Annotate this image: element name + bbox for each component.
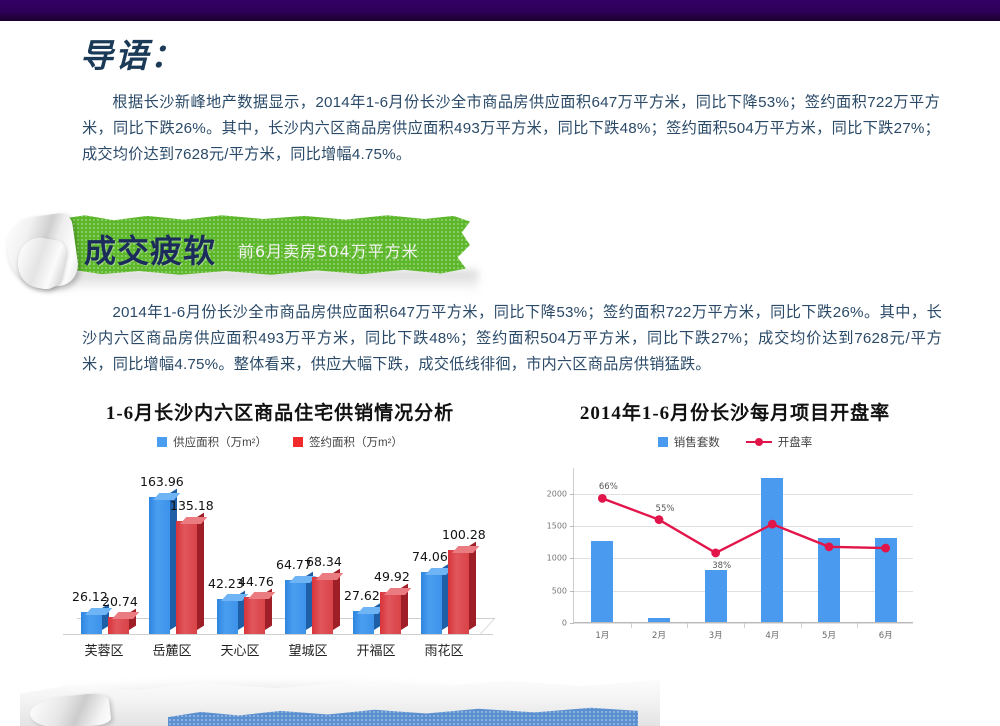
bar-face <box>176 521 197 634</box>
bar-value-label: 27.62 <box>344 588 380 603</box>
bar-face <box>81 612 102 634</box>
top-purple-bar <box>0 0 1000 21</box>
x-axis-tick-label: 3月 <box>688 629 744 641</box>
bar-face <box>421 572 442 634</box>
x-axis-tick-label: 6月 <box>858 629 914 641</box>
y-axis-tick-label: 1500 <box>547 522 567 531</box>
green-torn-banner: 成交疲软 前6月卖房504万平方米 <box>0 198 500 298</box>
x-axis-tickmark <box>744 623 745 628</box>
legend-label-contract: 签约面积（万m²） <box>309 434 403 450</box>
bar-supply <box>217 599 238 634</box>
y-axis-tick-label: 1000 <box>547 554 567 563</box>
bar-side <box>469 542 476 630</box>
y-axis-tick-label: 2000 <box>547 489 567 498</box>
y-axis-tick-label: 500 <box>552 586 567 595</box>
bar-face <box>244 597 265 634</box>
y-axis-tickmark <box>570 623 574 624</box>
bar-value-label: 163.96 <box>140 474 184 489</box>
x-axis-tickmark <box>687 623 688 628</box>
category-label: 开福区 <box>337 640 415 659</box>
bar-side <box>197 513 204 630</box>
bar-face <box>380 592 401 634</box>
bottom-torn-banner <box>0 668 1000 726</box>
bar-contract <box>108 617 129 634</box>
bar-group: 26.1220.74 <box>77 464 139 634</box>
x-axis-tickmark <box>631 623 632 628</box>
bar-face <box>448 550 469 634</box>
bar-value-label: 49.92 <box>374 569 410 584</box>
chart-floor-front <box>63 634 493 635</box>
y-axis-tick-label: 0 <box>562 619 567 628</box>
legend-swatch-red-icon <box>293 437 303 447</box>
chart-monthly-opening-rate: 2014年1-6月份长沙每月项目开盘率 销售套数 开盘率 05001000150… <box>515 398 955 660</box>
bar-value-label: 44.76 <box>238 574 274 589</box>
legend-item-opening-rate: 开盘率 <box>746 434 813 450</box>
legend-label-supply: 供应面积（万m²） <box>173 434 267 450</box>
legend-item-supply: 供应面积（万m²） <box>157 434 267 450</box>
line-point-label: 38% <box>712 561 731 571</box>
charts-row: 1-6月长沙内六区商品住宅供销情况分析 供应面积（万m²） 签约面积（万m²） … <box>0 398 1000 668</box>
banner-title: 成交疲软 <box>84 226 216 272</box>
legend-item-units-sold: 销售套数 <box>658 434 720 450</box>
bar-supply <box>149 497 170 634</box>
body-paragraph: 2014年1-6月份长沙全市商品房供应面积647万平方米，同比下降53%；签约面… <box>82 300 942 378</box>
bar-contract <box>448 550 469 634</box>
banner-subtitle: 前6月卖房504万平方米 <box>238 238 419 262</box>
x-axis-tick-label: 5月 <box>801 629 857 641</box>
x-axis-tick-label: 1月 <box>574 629 630 641</box>
line-point-label: 66% <box>599 482 618 492</box>
x-axis-tick-label: 4月 <box>744 629 800 641</box>
x-axis-tickmark <box>801 623 802 628</box>
bar-face <box>312 577 333 634</box>
chart-right-plot: 05001000150020001月2月3月4月5月6月66%55%38% <box>573 468 913 623</box>
chart-supply-sales-by-district: 1-6月长沙内六区商品住宅供销情况分析 供应面积（万m²） 签约面积（万m²） … <box>55 398 505 661</box>
legend-label-opening-rate: 开盘率 <box>778 434 813 450</box>
bar-contract <box>176 521 197 634</box>
bar-face <box>217 599 238 634</box>
chart-left-plot: 26.1220.74芙蓉区163.96135.18岳麓区42.2344.76天心… <box>55 456 505 661</box>
legend-line-marker-icon <box>746 437 772 447</box>
bar-group: 74.06100.28 <box>417 464 479 634</box>
body-section: 2014年1-6月份长沙全市商品房供应面积647万平方米，同比下降53%；签约面… <box>0 300 1000 378</box>
bar-group: 27.6249.92 <box>349 464 411 634</box>
category-label: 天心区 <box>201 640 279 659</box>
line-point-label: 55% <box>656 504 675 514</box>
bar-value-label: 20.74 <box>102 594 138 609</box>
category-label: 芙蓉区 <box>65 640 143 659</box>
bar-supply <box>421 572 442 634</box>
intro-heading: 导语： <box>80 38 1000 78</box>
intro-paragraph: 根据长沙新峰地产数据显示，2014年1-6月份长沙全市商品房供应面积647万平方… <box>82 90 940 168</box>
bar-group: 64.7768.34 <box>281 464 343 634</box>
chart-left-legend: 供应面积（万m²） 签约面积（万m²） <box>55 434 505 450</box>
bar-value-label: 74.06 <box>412 549 448 564</box>
bar-supply <box>353 611 374 634</box>
bar-face <box>108 617 129 634</box>
bar-group: 163.96135.18 <box>145 464 207 634</box>
category-label: 岳麓区 <box>133 640 211 659</box>
bar-contract <box>312 577 333 634</box>
bar-contract <box>380 592 401 634</box>
intro-section: 导语： 根据长沙新峰地产数据显示，2014年1-6月份长沙全市商品房供应面积64… <box>0 38 1000 168</box>
chart-left-title: 1-6月长沙内六区商品住宅供销情况分析 <box>55 398 505 425</box>
bar-value-label: 100.28 <box>442 527 486 542</box>
legend-item-contract: 签约面积（万m²） <box>293 434 403 450</box>
legend-label-units-sold: 销售套数 <box>674 434 720 450</box>
bar-contract <box>244 597 265 634</box>
bar-value-label: 135.18 <box>170 498 214 513</box>
chart-right-legend: 销售套数 开盘率 <box>515 434 955 450</box>
bar-face <box>149 497 170 634</box>
legend-swatch-blue-icon <box>157 437 167 447</box>
bar-face <box>353 611 374 634</box>
category-label: 雨花区 <box>405 640 483 659</box>
opening-rate-line <box>574 468 914 623</box>
chart-right-canvas: 05001000150020001月2月3月4月5月6月66%55%38% <box>531 460 931 660</box>
chart-right-title: 2014年1-6月份长沙每月项目开盘率 <box>515 398 955 425</box>
x-axis-tickmark <box>857 623 858 628</box>
bar-supply <box>285 580 306 634</box>
bar-group: 42.2344.76 <box>213 464 275 634</box>
bar-face <box>285 580 306 634</box>
bar-supply <box>81 612 102 634</box>
legend-swatch-bar-icon <box>658 437 668 447</box>
bar-value-label: 68.34 <box>306 554 342 569</box>
x-axis-tick-label: 2月 <box>631 629 687 641</box>
category-label: 望城区 <box>269 640 347 659</box>
